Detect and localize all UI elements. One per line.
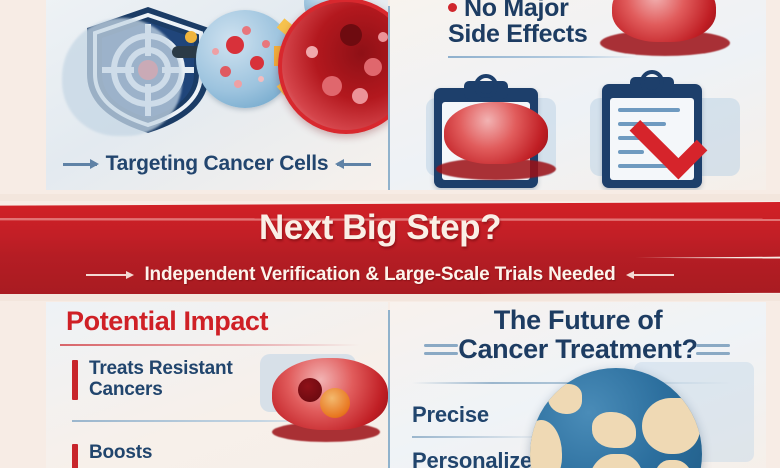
clipboard-tumor-mass	[444, 102, 548, 164]
banner-top-edge	[0, 194, 780, 201]
clipboard-checkmark-icon	[602, 84, 702, 188]
landmass-europe	[592, 412, 636, 448]
caption-label: Targeting Cancer Cells	[106, 152, 329, 176]
dash-1	[424, 344, 458, 347]
caption-targeting-cancer-cells: Targeting Cancer Cells	[46, 152, 388, 176]
banner-subtitle: Independent Verification & Large-Scale T…	[144, 264, 615, 286]
list-item: Personalized	[412, 448, 545, 468]
next-big-step-banner: Next Big Step? Independent Verification …	[0, 194, 780, 300]
heading-no-major-side-effects: No Major Side Effects	[448, 0, 588, 47]
red-tick-icon	[72, 360, 78, 400]
list-item-label: Treats Resistant Cancers	[89, 358, 233, 401]
arrow-right-icon	[63, 163, 97, 166]
heading-line-1: No Major	[448, 0, 588, 22]
page-line-4	[618, 150, 644, 154]
banner-bottom-edge	[0, 294, 780, 301]
heading-underline	[448, 56, 638, 58]
double-dash-icon	[424, 344, 458, 360]
list-item-label: Boosts	[89, 442, 152, 463]
tumor-lobe-2	[298, 378, 322, 402]
list-item: Treats Resistant Cancers	[72, 358, 233, 401]
banner-title: Next Big Step?	[0, 208, 770, 248]
landmass-north-america	[530, 420, 562, 468]
banner-subtitle-row: Independent Verification & Large-Scale T…	[0, 264, 770, 286]
panel-potential-impact: Potential Impact Treats Resistant Cancer…	[46, 302, 388, 468]
arrow-right-icon	[86, 274, 132, 276]
list-item: Precise	[412, 402, 489, 428]
landmass-africa	[588, 454, 644, 468]
heading-text-1: No Major	[464, 0, 569, 22]
title-underline	[60, 344, 360, 346]
arrow-left-icon	[337, 163, 371, 166]
panel-future-of-cancer-treatment: The Future of Cancer Treatment? Precise …	[390, 302, 766, 468]
dash-1	[696, 344, 730, 347]
landmass-asia	[642, 398, 700, 454]
list-item-line-2: Cancers	[89, 379, 163, 400]
red-bullet-dot-icon	[448, 3, 457, 12]
clipboard-check-ring	[640, 70, 664, 94]
red-tick-icon	[72, 444, 78, 468]
title-line-1: The Future of	[390, 306, 766, 335]
panel-divider-bottom	[388, 310, 390, 468]
double-dash-icon	[696, 344, 730, 360]
landmass-south-asia	[654, 460, 694, 468]
landmass-greenland	[548, 384, 582, 414]
clipboard-check-page	[610, 98, 694, 180]
panel-no-major-side-effects: No Major Side Effects	[390, 0, 766, 190]
dash-2	[424, 352, 458, 355]
list-item: Boosts	[72, 442, 152, 468]
red-tumor-cluster-icon	[264, 348, 388, 444]
panel-title-potential-impact: Potential Impact	[66, 306, 268, 337]
red-tumor-cell-icon	[278, 0, 388, 134]
heading-text-2: Side Effects	[448, 22, 588, 48]
panel-divider-top	[388, 6, 390, 190]
shield-shadow	[62, 18, 182, 136]
list-item-line-1: Treats Resistant	[89, 358, 233, 379]
tumor-lobe-1	[320, 388, 350, 418]
panel-targeting-cancer-cells: Targeting Cancer Cells	[46, 0, 388, 190]
infographic-poster: Targeting Cancer Cells No Major Side Eff…	[0, 0, 780, 468]
clipboard-ring	[474, 74, 498, 98]
arrow-left-icon	[628, 274, 674, 276]
dash-2	[696, 352, 730, 355]
